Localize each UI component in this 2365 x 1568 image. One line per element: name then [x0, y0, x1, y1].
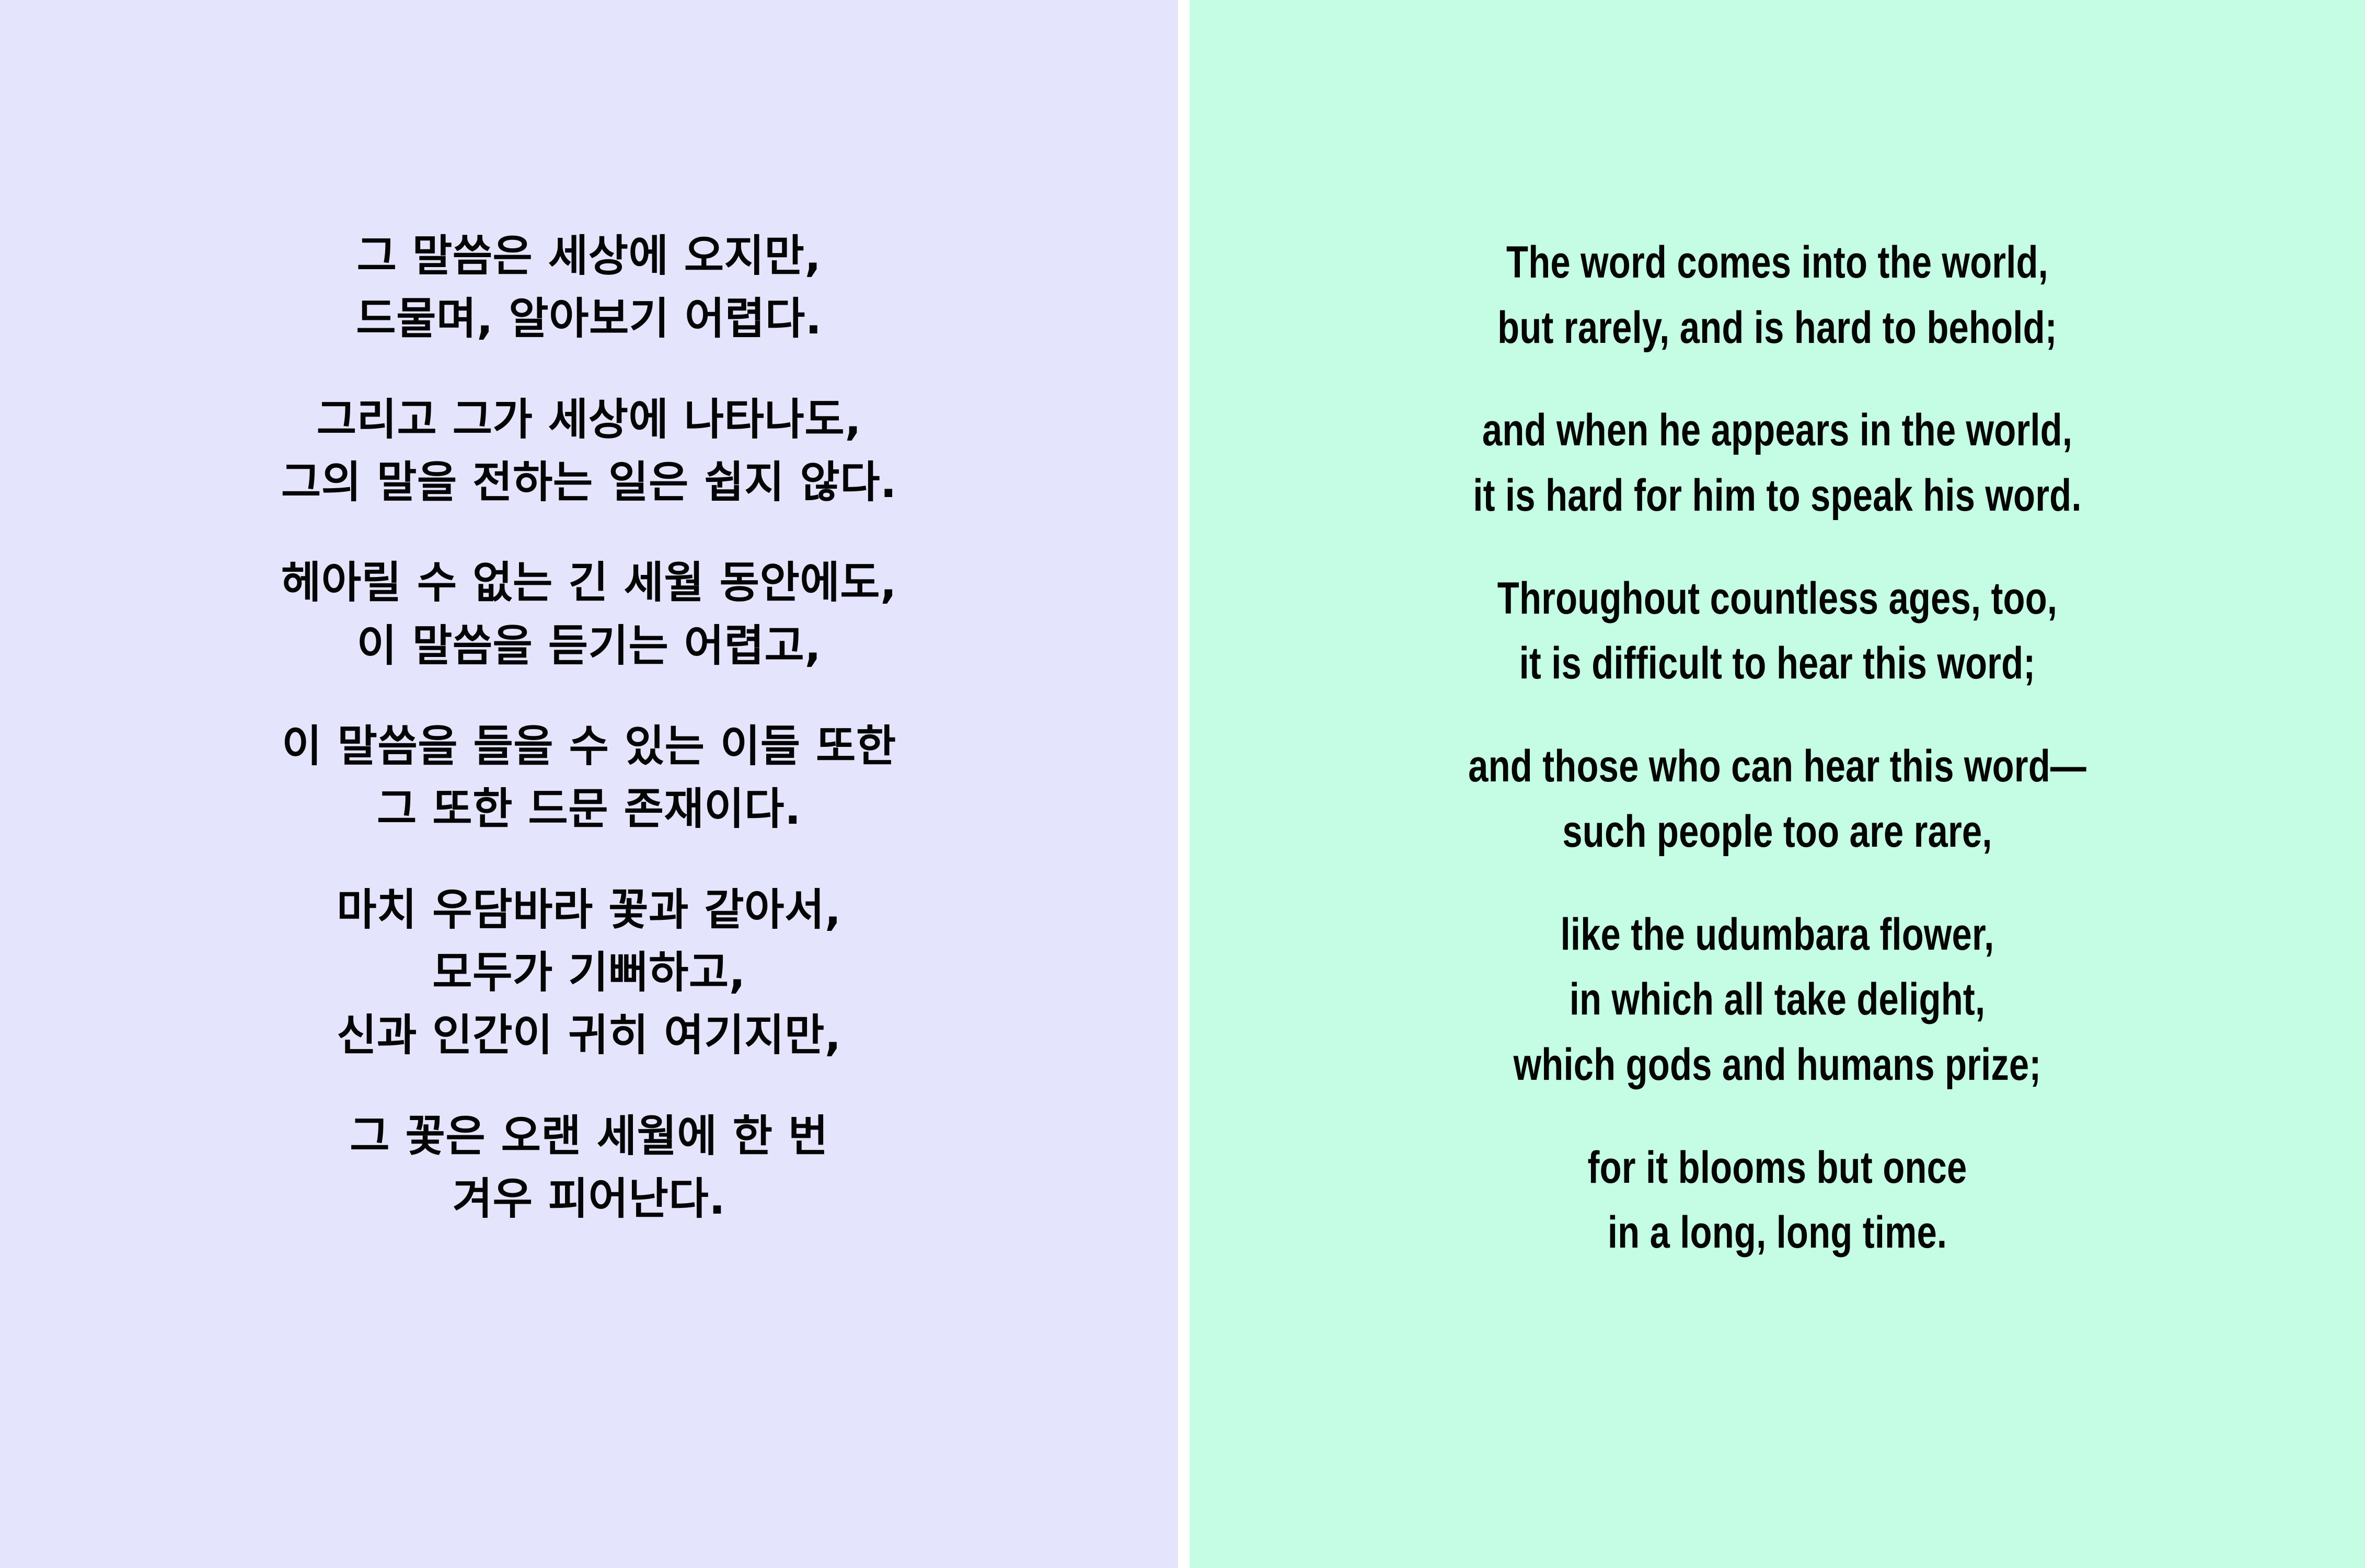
poem-line: 드물며, 알아보기 어렵다.: [37, 287, 1141, 350]
poem-line: for it blooms but once: [1336, 1135, 2218, 1201]
poem-line: it is difficult to hear this word;: [1336, 631, 2218, 696]
poem-line: like the udumbara flower,: [1336, 902, 2218, 967]
korean-stanza: 그 꽃은 오랜 세월에 한 번 겨우 피어난다.: [37, 1105, 1141, 1231]
english-stanza: and when he appears in the world, it is …: [1226, 398, 2328, 528]
poem-line: 그 말씀은 세상에 오지만,: [37, 225, 1141, 287]
poem-line: which gods and humans prize;: [1336, 1032, 2218, 1098]
poem-line: it is hard for him to speak his word.: [1336, 463, 2218, 528]
poem-line: 헤아릴 수 없는 긴 세월 동안에도,: [37, 551, 1141, 614]
poem-line: but rarely, and is hard to behold;: [1336, 295, 2218, 361]
poem-line: 신과 인간이 귀히 여기지만,: [37, 1004, 1141, 1067]
poem-line: 그의 말을 전하는 일은 쉽지 않다.: [37, 451, 1141, 514]
english-stanza: and those who can hear this word— such p…: [1226, 734, 2328, 864]
poem-line: 마치 우담바라 꽃과 같아서,: [37, 879, 1141, 941]
poem-line: such people too are rare,: [1336, 799, 2218, 864]
korean-stanza: 마치 우담바라 꽃과 같아서, 모두가 기뻐하고, 신과 인간이 귀히 여기지만…: [37, 879, 1141, 1067]
korean-stanza: 그 말씀은 세상에 오지만, 드물며, 알아보기 어렵다.: [37, 225, 1141, 351]
bilingual-poem-spread: 그 말씀은 세상에 오지만, 드물며, 알아보기 어렵다. 그리고 그가 세상에…: [0, 0, 2365, 1568]
korean-stanza: 그리고 그가 세상에 나타나도, 그의 말을 전하는 일은 쉽지 않다.: [37, 388, 1141, 514]
poem-line: Throughout countless ages, too,: [1336, 566, 2218, 631]
poem-line: 이 말씀을 듣기는 어렵고,: [37, 615, 1141, 677]
poem-line: The word comes into the world,: [1336, 230, 2218, 295]
korean-stanza: 헤아릴 수 없는 긴 세월 동안에도, 이 말씀을 듣기는 어렵고,: [37, 551, 1141, 677]
poem-line: 그 꽃은 오랜 세월에 한 번: [37, 1105, 1141, 1168]
poem-line: and when he appears in the world,: [1336, 398, 2218, 463]
english-stanza: like the udumbara flower, in which all t…: [1226, 902, 2328, 1098]
poem-line: 모두가 기뻐하고,: [37, 941, 1141, 1004]
korean-poem-body: 그 말씀은 세상에 오지만, 드물며, 알아보기 어렵다. 그리고 그가 세상에…: [0, 225, 1178, 1230]
english-poem-body: The word comes into the world, but rarel…: [1190, 230, 2365, 1265]
korean-poem-panel: 그 말씀은 세상에 오지만, 드물며, 알아보기 어렵다. 그리고 그가 세상에…: [0, 0, 1178, 1568]
english-stanza: The word comes into the world, but rarel…: [1226, 230, 2328, 360]
poem-line: 그리고 그가 세상에 나타나도,: [37, 388, 1141, 451]
poem-line: 그 또한 드문 존재이다.: [37, 778, 1141, 840]
poem-line: in a long, long time.: [1336, 1200, 2218, 1265]
poem-line: in which all take delight,: [1336, 967, 2218, 1032]
korean-stanza: 이 말씀을 들을 수 있는 이들 또한 그 또한 드문 존재이다.: [37, 715, 1141, 841]
poem-line: 겨우 피어난다.: [37, 1168, 1141, 1230]
english-poem-panel: The word comes into the world, but rarel…: [1190, 0, 2365, 1568]
poem-line: and those who can hear this word—: [1336, 734, 2218, 799]
english-stanza: for it blooms but once in a long, long t…: [1226, 1135, 2328, 1265]
poem-line: 이 말씀을 들을 수 있는 이들 또한: [37, 715, 1141, 778]
english-stanza: Throughout countless ages, too, it is di…: [1226, 566, 2328, 696]
